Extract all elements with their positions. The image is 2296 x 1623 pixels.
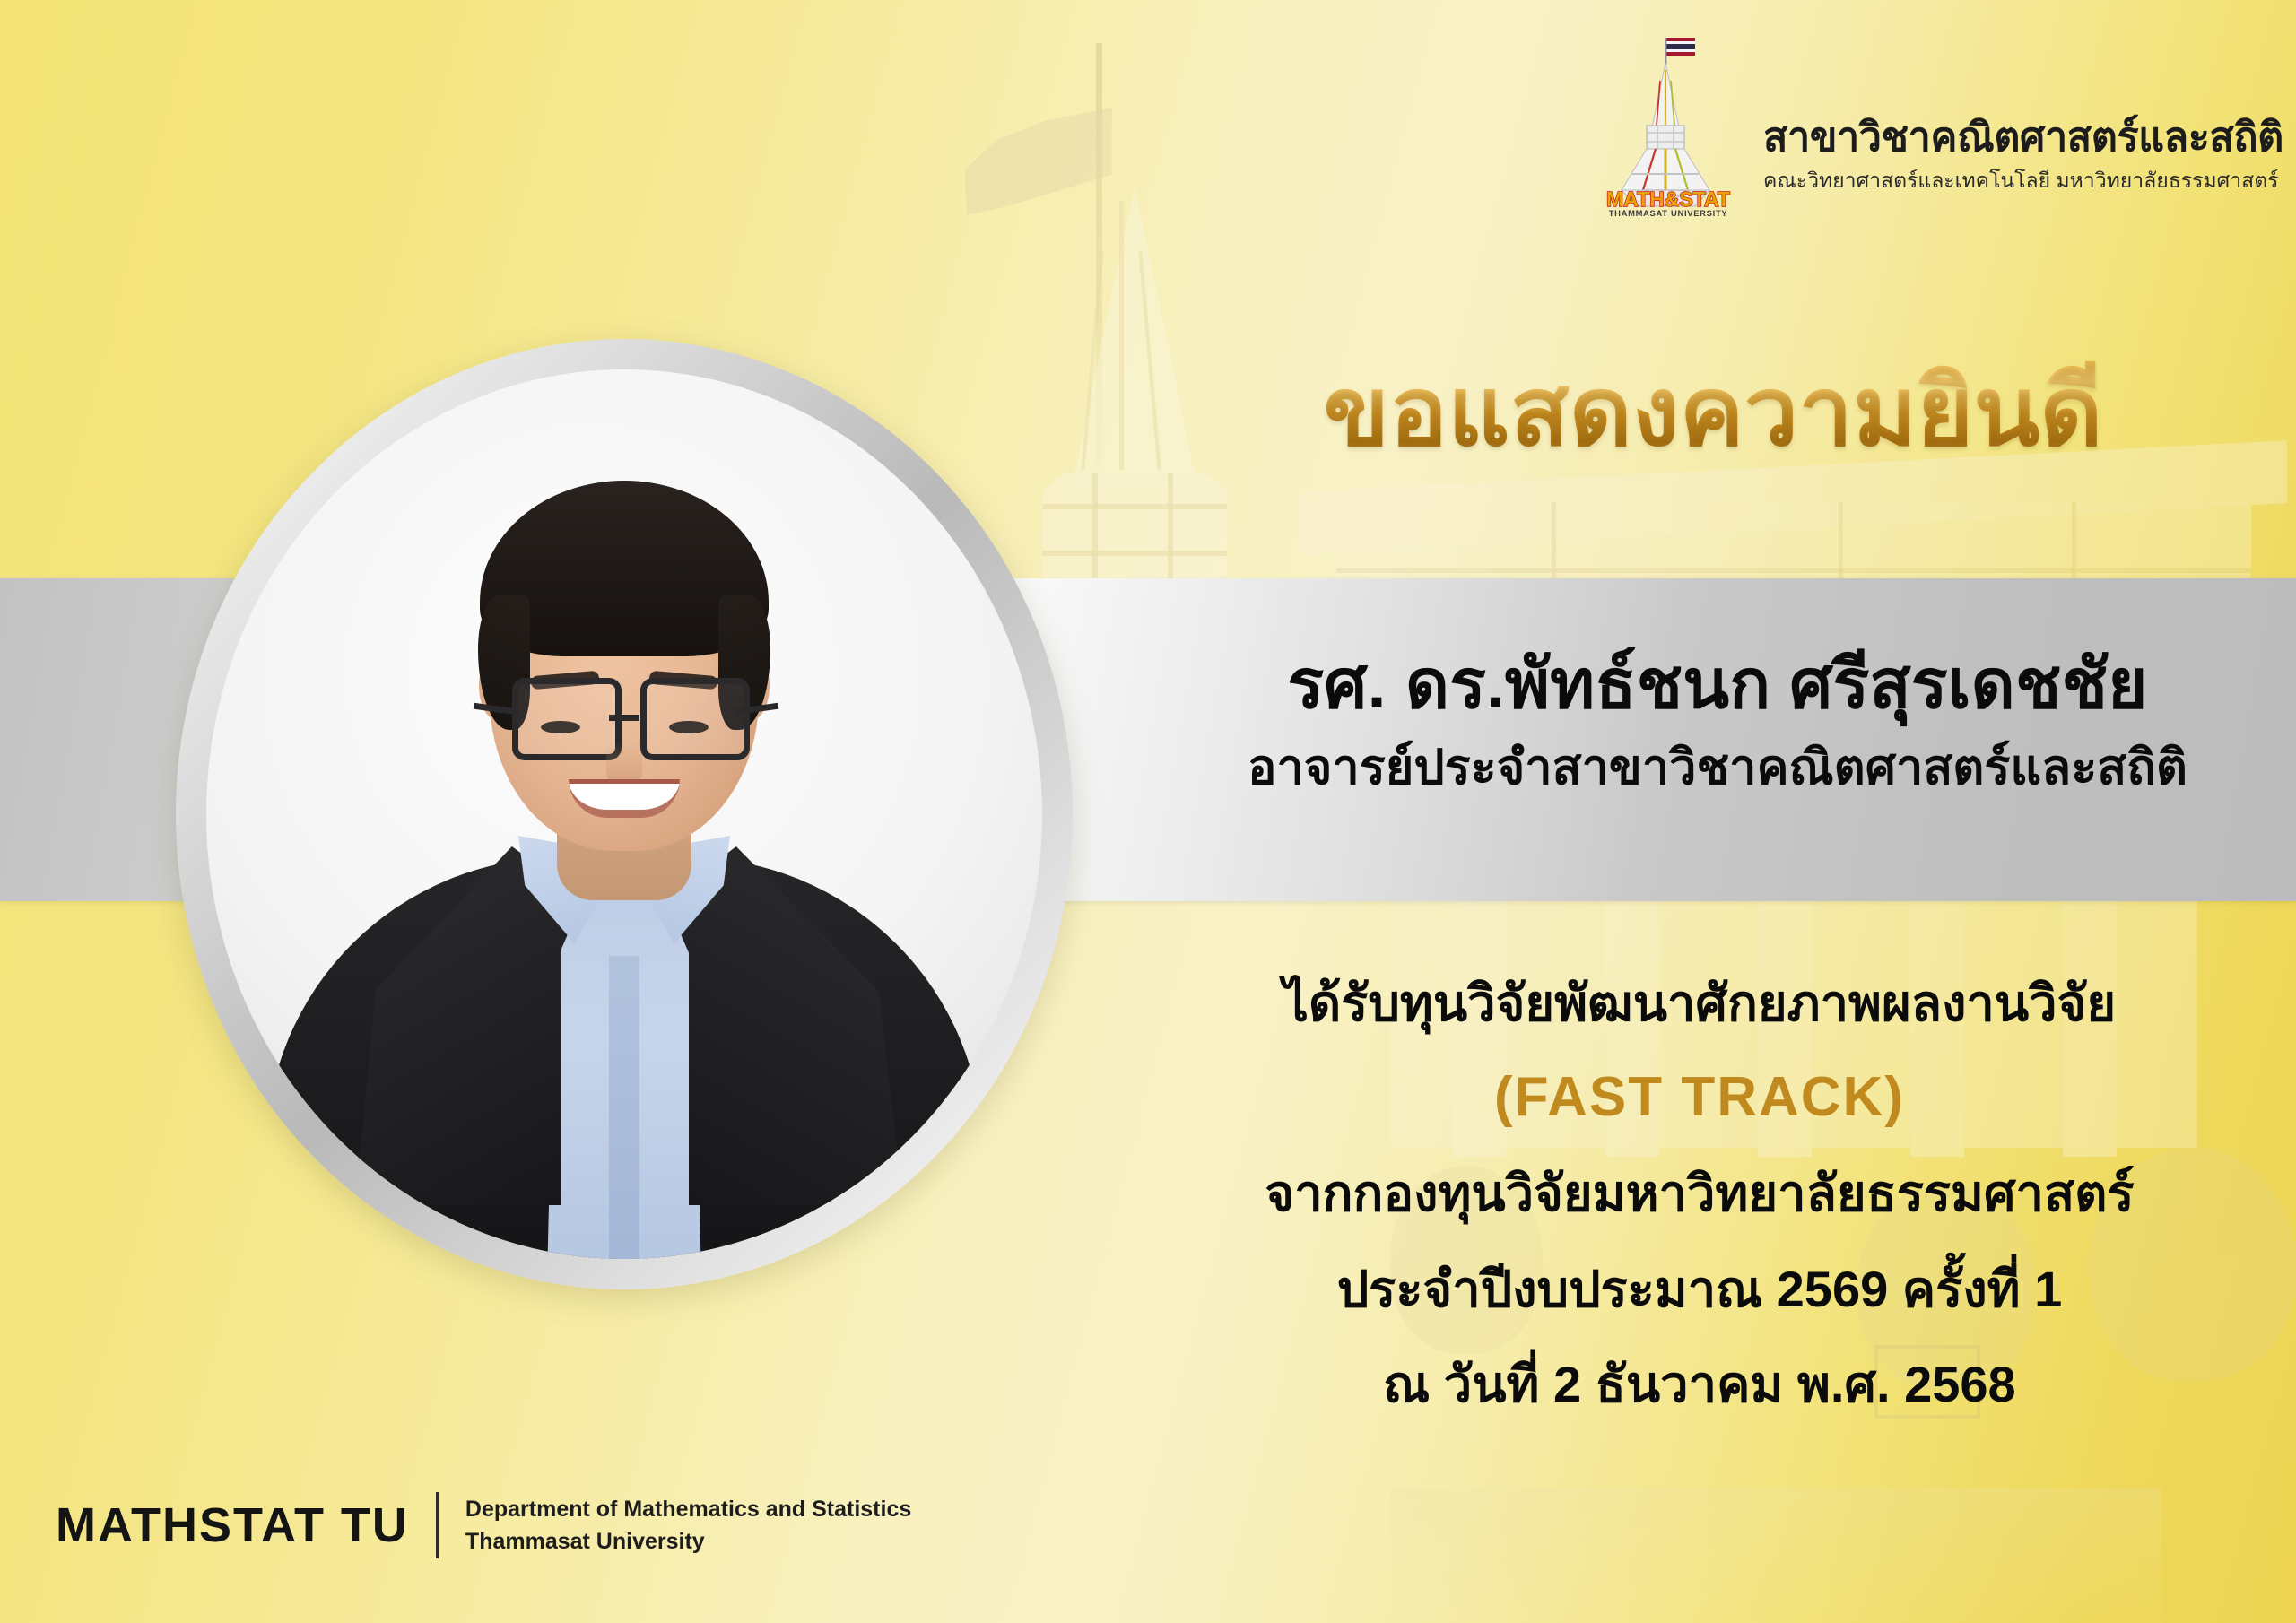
watermark-spire-rib	[1138, 251, 1161, 470]
watermark-flagpole	[1096, 43, 1102, 464]
photo-glasses-lens-right	[640, 678, 750, 760]
footer-text-block: Department of Mathematics and Statistics…	[465, 1493, 911, 1558]
awardee-role: อาจารย์ประจำสาขาวิชาคณิตศาสตร์และสถิติ	[1166, 736, 2269, 799]
footer-university: Thammasat University	[465, 1525, 911, 1558]
logo-text-block: สาขาวิชาคณิตศาสตร์และสถิติ คณะวิทยาศาสตร…	[1763, 52, 2283, 198]
thai-flag-icon	[1666, 38, 1695, 56]
footer-brand: MATHSTAT TU	[56, 1497, 409, 1553]
congratulations-poster: DOME ADMINISTRATION BUILDING	[0, 0, 2296, 1623]
footer-department: Department of Mathematics and Statistics	[465, 1493, 911, 1525]
portrait-photo	[206, 369, 1042, 1259]
photo-glasses-bridge	[609, 715, 639, 721]
awardee-name: รศ. ดร.พัทธ์ชนก ศรีสุรเดชชัย	[1166, 644, 2269, 727]
photo-glasses-lens-left	[512, 678, 622, 760]
watermark-lantern-bar	[1092, 473, 1098, 592]
award-funder: จากกองทุนวิจัยมหาวิทยาลัยธรรมศาสตร์	[1121, 1167, 2278, 1220]
award-fiscal-year: ประจำปีงบประมาณ 2569 ครั้งที่ 1	[1121, 1263, 2278, 1316]
award-grant-line: ได้รับทุนวิจัยพัฒนาศักยภาพผลงานวิจัย	[1121, 977, 2278, 1030]
watermark-flag	[964, 108, 1112, 215]
award-fast-track: (FAST TRACK)	[1121, 1068, 2278, 1126]
award-date: ณ วันที่ 2 ธันวาคม พ.ศ. 2568	[1121, 1358, 2278, 1411]
logo-university-text: THAMMASAT UNIVERSITY	[1609, 208, 1728, 218]
awardee-name-block: รศ. ดร.พัทธ์ชนก ศรีสุรเดชชัย อาจารย์ประจ…	[1166, 644, 2269, 799]
department-name-th: สาขาวิชาคณิตศาสตร์และสถิติ	[1763, 115, 2283, 160]
department-logo: MATH&STAT THAMMASAT UNIVERSITY สาขาวิชาค…	[1596, 30, 2283, 219]
thammasat-dome-math-stat-logo: MATH&STAT THAMMASAT UNIVERSITY	[1596, 30, 1740, 219]
watermark-lantern-bar	[1168, 473, 1173, 592]
watermark-spire	[1067, 188, 1202, 484]
dome-tower-icon: MATH&STAT THAMMASAT UNIVERSITY	[1596, 30, 1740, 219]
footer-branding: MATHSTAT TU Department of Mathematics an…	[56, 1492, 911, 1558]
faculty-name-th: คณะวิทยาศาสตร์และเทคโนโลยี มหาวิทยาลัยธร…	[1763, 165, 2283, 197]
footer-divider	[436, 1492, 439, 1558]
award-details-block: ได้รับทุนวิจัยพัฒนาศักยภาพผลงานวิจัย (FA…	[1121, 977, 2278, 1411]
watermark-spire-rib	[1119, 201, 1124, 470]
watermark-reflecting-pool	[1390, 1488, 2161, 1623]
watermark-building-line	[1336, 568, 2251, 573]
photo-shirt-placket	[609, 956, 639, 1259]
awardee-portrait	[176, 339, 1073, 1289]
watermark-spire-rib	[1081, 251, 1103, 470]
congratulations-headline: ขอแสดงความยินดี	[1184, 359, 2242, 465]
